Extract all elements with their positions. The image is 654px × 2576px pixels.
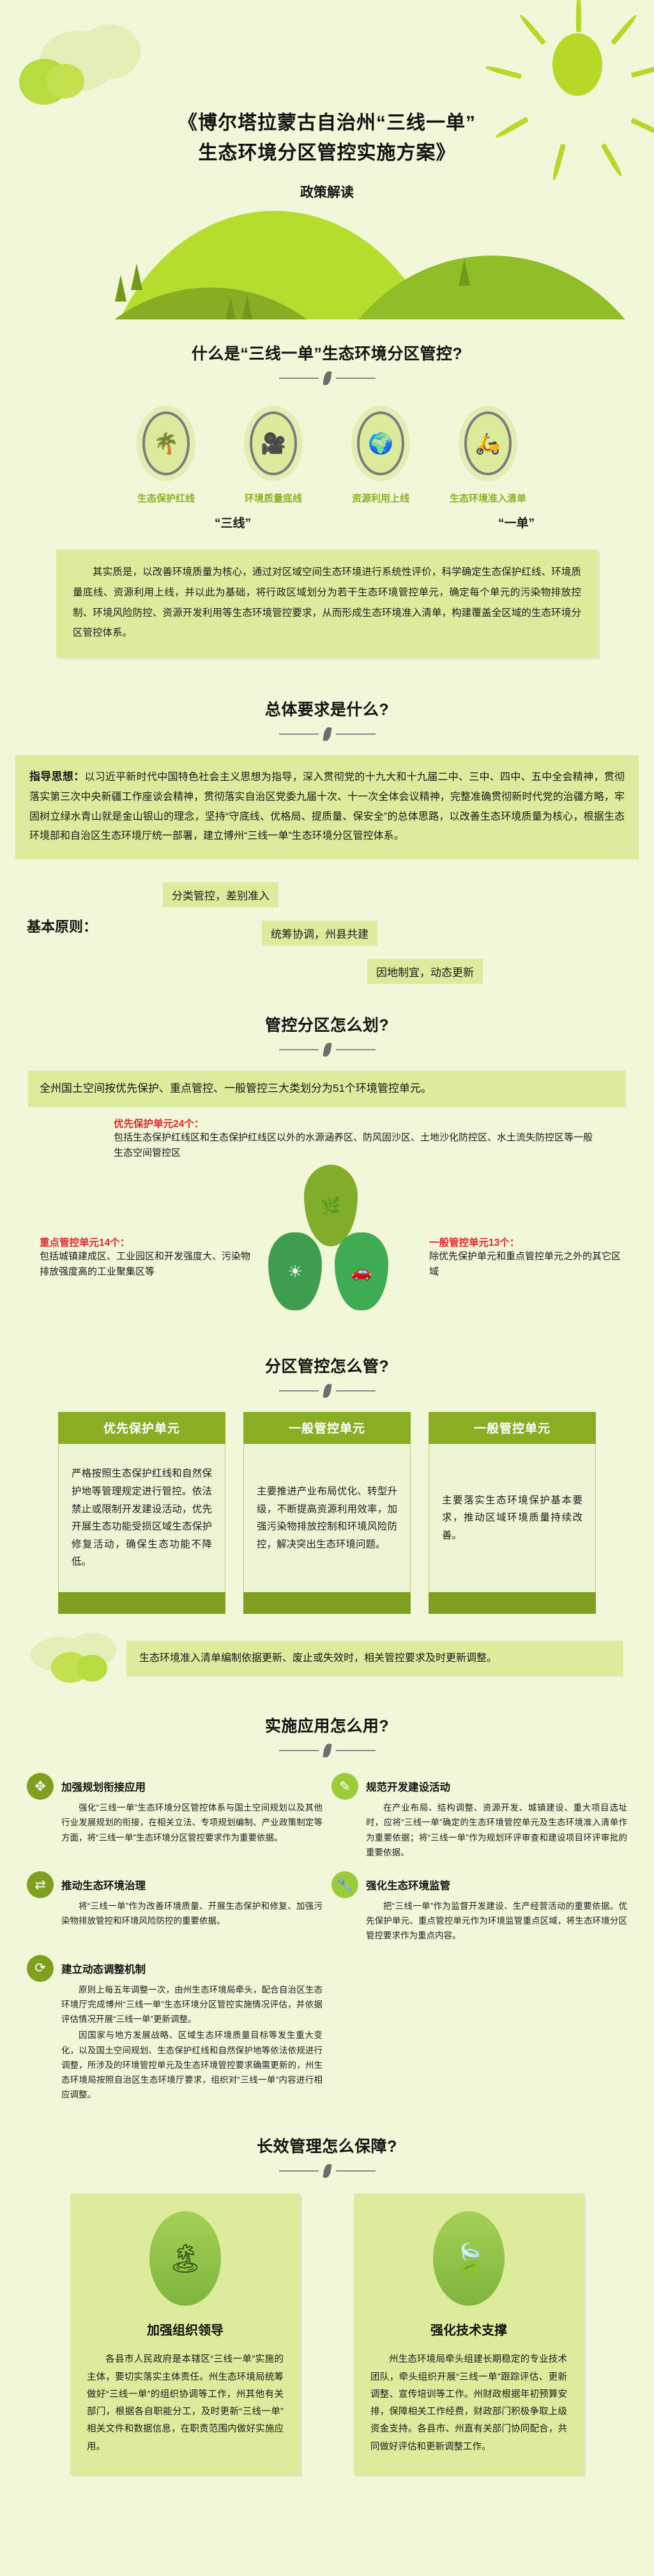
cloud-shape-icon [79,24,141,79]
guarantee-cards: 🏝 加强组织领导 各县市人民政府是本辖区“三线一单”实施的主体，要切实落实主体责… [0,2193,654,2475]
card-title: 一般管控单元 [429,1412,596,1444]
tree-icon [225,297,236,319]
guiding-thought-text: 以习近平新时代中国特色社会主义思想为指导，深入贯彻党的十九大和十九届二中、三中、… [29,772,625,841]
zone-title: 重点管控单元14个： [40,1235,250,1249]
card-text: 各县市人民政府是本辖区“三线一单”实施的主体，要切实落实主体责任。州生态环境局统… [87,2351,284,2456]
section-heading: 什么是“三线一单”生态环境分区管控? [0,337,654,385]
section1-title: 什么是“三线一单”生态环境分区管控? [0,341,654,364]
item-title: 建立动态调整机制 [61,1961,323,1976]
hero-banner: 《博尔塔拉蒙古自治州“三线一单” 生态环境分区管控实施方案》 政策解读 [0,0,654,319]
management-cards: 优先保护单元 严格按照生态保护红线和自然保护地等管理规定进行管控。依法禁止或限制… [0,1412,654,1614]
zone-text: 包括城镇建成区、工业园区和开发强度大、污染物排放强度高的工业聚集区等 [40,1249,250,1280]
zoning-diagram: 优先保护单元24个： 包括生态保护红线区和生态保护红线区以外的水源涵养区、防风固… [0,1116,654,1327]
page-subtitle: 政策解读 [0,182,654,201]
management-card[interactable]: 一般管控单元 主要推进产业布局优化、转型升级，不断提高资源利用效率，加强污染物排… [243,1412,411,1614]
cloud-cluster-icon [31,1633,126,1684]
icon-label: 生态保护红线 [118,491,214,505]
section-long-term-management: 长效管理怎么保障? 🏝 加强组织领导 各县市人民政府是本辖区“三线一单”实施的主… [0,2102,654,2501]
guarantee-card-technical[interactable]: 🍃 强化技术支撑 州生态环境局牵头组建长期稳定的专业技术团队，牵头组织开展“三线… [354,2193,584,2475]
section-zoning: 管控分区怎么划? 全州国土空间按优先保护、重点管控、一般管控三大类划分为51个环… [0,985,654,1327]
section-heading: 管控分区怎么划? [0,1009,654,1057]
zone-text: 包括生态保护红线区和生态保护红线区以外的水源涵养区、防风固沙区、土地沙化防控区、… [114,1130,599,1161]
section-heading: 分区管控怎么管? [0,1350,654,1398]
group-tag-one-list: “一单” [498,514,535,531]
leaf-spiral-icon: 🍃 [433,2211,505,2306]
implementation-item-dynamic-adjustment[interactable]: ⟳ 建立动态调整机制 原则上每五年调整一次，由州生态环境局牵头，配合自治区生态环… [27,1955,323,2103]
zone-key-control: 重点管控单元14个： 包括城镇建成区、工业园区和开发强度大、污染物排放强度高的工… [40,1235,250,1280]
card-footer-bar [243,1592,411,1614]
swap-arrows-icon: ⇄ [27,1871,54,1898]
wrench-icon: 🔧 [331,1871,358,1898]
icon-label: 资源利用上线 [333,491,429,505]
scooter-delivery-icon: 🛵 [464,411,512,475]
palm-house-icon: 🏝 [149,2211,221,2306]
zone-priority-protection: 优先保护单元24个： 包括生态保护红线区和生态保护红线区以外的水源涵养区、防风固… [114,1116,599,1161]
card-title: 强化技术支撑 [370,2320,567,2338]
card-title: 一般管控单元 [243,1412,411,1444]
solar-panel-icon: ☀ [268,1232,322,1310]
pencil-icon: ✎ [331,1773,358,1800]
leaf-divider-icon [323,1042,331,1057]
update-note: 生态环境准入清单编制依据更新、废止或失效时，相关管控要求及时更新调整。 [31,1633,623,1684]
zone-title: 一般管控单元13个： [429,1235,621,1249]
heading-divider [0,371,654,385]
tree-icon [241,295,253,319]
electric-car-icon: 🚗 [335,1232,388,1310]
heading-divider [0,1744,654,1758]
item-paragraph: 将“三线一单”作为改善环境质量、开展生态保护和修复、加强污染物排放管控和环境风险… [61,1899,323,1928]
management-card[interactable]: 优先保护单元 严格按照生态保护红线和自然保护地等管理规定进行管控。依法禁止或限制… [58,1412,225,1614]
section6-title: 长效管理怎么保障? [0,2134,654,2157]
section-how-to-manage: 分区管控怎么管? 优先保护单元 严格按照生态保护红线和自然保护地等管理规定进行管… [0,1327,654,1684]
card-text: 州生态环境局牵头组建长期稳定的专业技术团队，牵头组织开展“三线一单”跟踪评估、更… [370,2351,567,2456]
film-camera-icon: 🎥 [250,411,297,475]
section1-paragraph: 其实质是，以改善环境质量为核心，通过对区域空间生态环境进行系统性评价，科学确定生… [56,549,598,657]
leaf-divider-icon [323,1384,331,1399]
icon-item-env-quality-bottomline[interactable]: 🎥 环境质量底线 [225,406,321,505]
section4-title: 分区管控怎么管? [0,1354,654,1377]
section-implementation: 实施应用怎么用? ✥ 加强规划衔接应用 强化“三线一单”生态环境分区管控体系与国… [0,1684,654,2102]
section-what-is: 什么是“三线一单”生态环境分区管控? 🌴 生态保护红线 🎥 环境质量底线 🌍 资… [0,319,654,657]
card-text: 严格按照生态保护红线和自然保护地等管理规定进行管控。依法禁止或限制开发建设活动，… [58,1444,225,1592]
item-paragraph: 原则上每五年调整一次，由州生态环境局牵头，配合自治区生态环境厅完成博州“三线一单… [61,1982,323,2027]
refresh-circle-icon: ⟳ [27,1955,54,1982]
implementation-item-governance[interactable]: ⇄ 推动生态环境治理 将“三线一单”作为改善环境质量、开展生态保护和修复、加强污… [27,1871,323,1943]
icon-item-ecological-redline[interactable]: 🌴 生态保护红线 [118,406,214,505]
group-tags: “三线” “一单” [0,509,654,538]
icon-label: 生态环境准入清单 [440,491,536,505]
section-heading: 总体要求是什么? [0,693,654,741]
guarantee-card-organization[interactable]: 🏝 加强组织领导 各县市人民政府是本辖区“三线一单”实施的主体，要切实落实主体责… [70,2193,300,2475]
principle-item: 统筹协调，州县共建 [262,921,377,946]
card-text: 主要推进产业布局优化、转型升级，不断提高资源利用效率，加强污染物排放控制和环境风… [243,1444,411,1592]
principle-item: 因地制宜，动态更新 [367,959,483,984]
cloud-shape-icon [46,64,84,98]
leaf-petals-graphic: 🌿 ☀ 🚗 [254,1165,407,1318]
leaf-divider-icon [323,2164,331,2179]
card-footer-bar [429,1592,596,1614]
icon-item-access-list[interactable]: 🛵 生态环境准入清单 [440,406,536,505]
icon-label: 环境质量底线 [225,491,321,505]
zone-text: 除优先保护单元和重点管控单元之外的其它区域 [429,1249,621,1280]
implementation-item-development[interactable]: ✎ 规范开发建设活动 在产业布局、结构调整、资源开发、城镇建设、重大项目选址时，… [331,1773,627,1860]
basic-principles-label: 基本原则： [27,916,97,936]
zoning-summary: 全州国土空间按优先保护、重点管控、一般管控三大类划分为51个环境管控单元。 [28,1071,626,1107]
guiding-thought-box: 指导思想：以习近平新时代中国特色社会主义思想为指导，深入贯彻党的十九大和十九届二… [15,755,639,859]
icon-item-resource-upperline[interactable]: 🌍 资源利用上线 [333,406,429,505]
card-text: 主要落实生态环境保护基本要求，推动区域环境质量持续改善。 [429,1444,596,1592]
item-title: 推动生态环境治理 [61,1877,323,1892]
item-paragraph: 强化“三线一单”生态环境分区管控体系与国土空间规划以及其他行业发展规划的衔接，在… [61,1800,323,1845]
section-heading: 长效管理怎么保障? [0,2130,654,2178]
heading-divider [0,2164,654,2178]
principle-item: 分类管控，差别准入 [163,882,278,907]
section3-title: 管控分区怎么划? [0,1013,654,1036]
section-heading: 实施应用怎么用? [0,1710,654,1758]
section5-title: 实施应用怎么用? [0,1713,654,1736]
palm-island-icon: 🌴 [142,411,190,475]
move-arrows-icon: ✥ [27,1773,54,1800]
leaf-divider-icon [323,726,331,741]
item-title: 规范开发建设活动 [366,1779,627,1794]
implementation-item-supervision[interactable]: 🔧 强化生态环境监管 把“三线一单”作为监督开发建设、生产经营活动的重要依据。优… [331,1871,627,1943]
guiding-thought-label: 指导思想： [29,770,84,783]
page-title: 《博尔塔拉蒙古自治州“三线一单” 生态环境分区管控实施方案》 [0,109,654,168]
item-paragraph: 把“三线一单”作为监督开发建设、生产经营活动的重要依据。优先保护单元、重点管控单… [366,1899,627,1943]
basic-principles: 基本原则： 分类管控，差别准入 统筹协调，州县共建 因地制宜，动态更新 [0,876,654,985]
three-lines-one-list-icons: 🌴 生态保护红线 🎥 环境质量底线 🌍 资源利用上线 🛵 生态环境准入清单 [0,406,654,505]
heading-divider [0,727,654,741]
card-title: 优先保护单元 [58,1412,225,1444]
implementation-item-planning[interactable]: ✥ 加强规划衔接应用 强化“三线一单”生态环境分区管控体系与国土空间规划以及其他… [27,1773,323,1860]
group-tag-three-lines: “三线” [215,514,251,531]
implementation-items: ✥ 加强规划衔接应用 强化“三线一单”生态环境分区管控体系与国土空间规划以及其他… [27,1773,627,2102]
tree-icon [459,259,470,286]
zone-general-control: 一般管控单元13个： 除优先保护单元和重点管控单元之外的其它区域 [429,1235,621,1280]
section-overall-requirements: 总体要求是什么? 指导思想：以习近平新时代中国特色社会主义思想为指导，深入贯彻党… [0,657,654,985]
management-card[interactable]: 一般管控单元 主要落实生态环境保护基本要求，推动区域环境质量持续改善。 [429,1412,596,1614]
item-paragraph: 在产业布局、结构调整、资源开发、城镇建设、重大项目选址时，应将“三线一单”确定的… [366,1800,627,1860]
item-title: 加强规划衔接应用 [61,1779,323,1794]
page-title-line1: 《博尔塔拉蒙古自治州“三线一单” [0,109,654,139]
heading-divider [0,1043,654,1057]
heading-divider [0,1384,654,1398]
item-paragraph: 因国家与地方发展战略、区域生态环境质量目标等发生重大变化，以及国土空间规划、生态… [61,2028,323,2102]
leaf-divider-icon [323,1744,331,1758]
page-title-line2: 生态环境分区管控实施方案》 [0,139,654,169]
item-title: 强化生态环境监管 [366,1877,627,1892]
leaf-divider-icon [323,371,331,385]
globe-leaf-icon: 🌍 [357,411,404,475]
update-note-text: 生态环境准入清单编制依据更新、废止或失效时，相关管控要求及时更新调整。 [126,1641,623,1676]
zone-title: 优先保护单元24个： [114,1116,599,1130]
card-title: 加强组织领导 [87,2320,284,2338]
tree-icon [115,275,126,302]
section2-title: 总体要求是什么? [0,697,654,720]
card-footer-bar [58,1592,225,1614]
tree-icon [131,263,142,290]
